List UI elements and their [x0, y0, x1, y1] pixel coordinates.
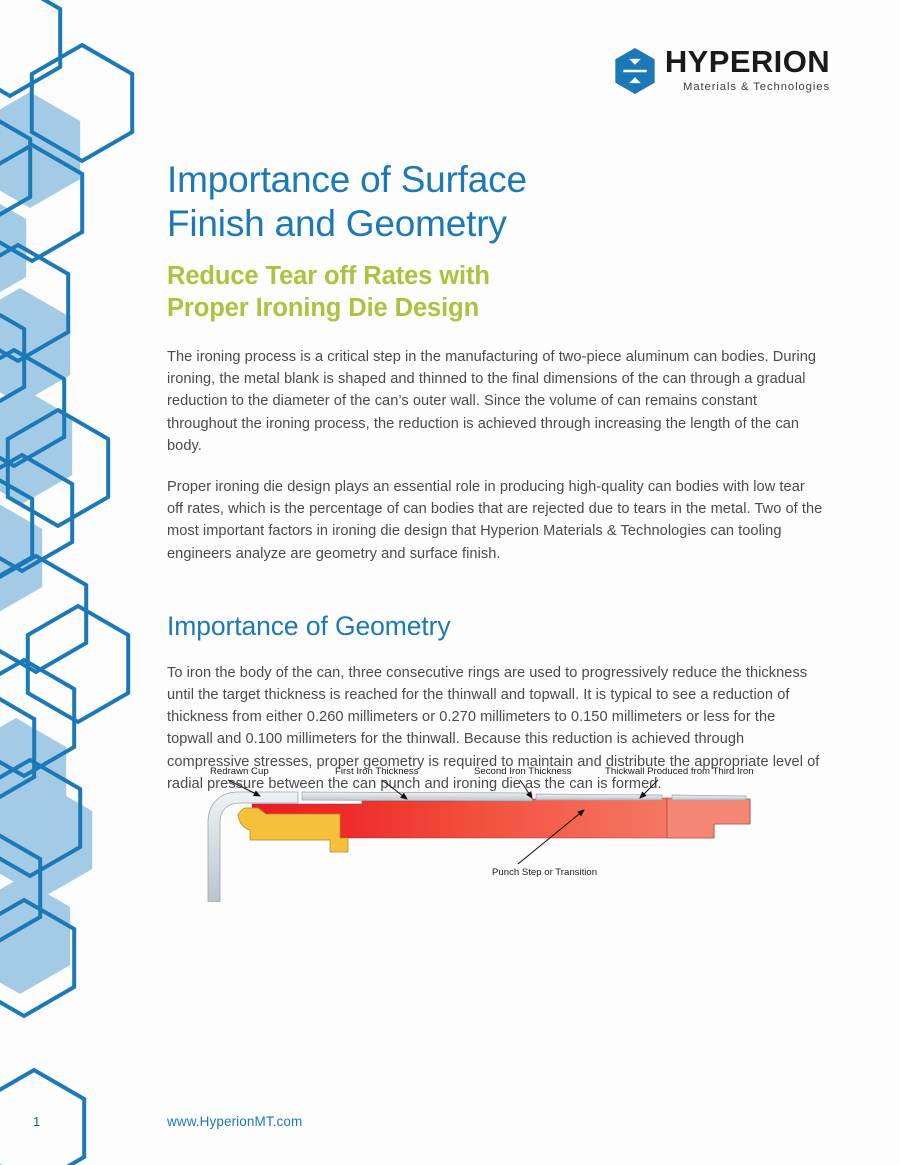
document-content: Importance of Surface Finish and Geometr…	[167, 158, 824, 795]
page-title-line-1: Importance of Surface	[167, 159, 527, 200]
hexagon-decoration-band	[0, 0, 160, 1165]
logo-wordmark: HYPERION	[665, 46, 830, 77]
section-heading-geometry: Importance of Geometry	[167, 610, 824, 642]
figure-punch-step-geometry	[667, 798, 750, 838]
page-subtitle-line-2: Proper Ironing Die Design	[167, 294, 479, 322]
page-title: Importance of Surface Finish and Geometr…	[167, 158, 824, 246]
document-page: HYPERION Materials & Technologies Import…	[0, 0, 900, 1165]
footer-website-link[interactable]: www.HyperionMT.com	[167, 1114, 302, 1129]
page-subtitle-line-1: Reduce Tear off Rates with	[167, 262, 490, 290]
footer-page-number: 1	[33, 1114, 40, 1129]
figure-punch-yellow	[238, 808, 348, 852]
hexagon-outline-group	[0, 0, 132, 1165]
logo-tagline: Materials & Technologies	[683, 82, 830, 93]
figure-band-thickwall	[672, 795, 746, 800]
figure-label-redrawn-cup: Redrawn Cup	[210, 766, 269, 777]
figure-wall-thickness-bands	[302, 792, 746, 801]
figure-label-second-iron: Second Iron Thickness	[474, 766, 572, 777]
figure-label-punch-step: Punch Step or Transition	[492, 867, 597, 878]
hyperion-logo: HYPERION Materials & Technologies	[614, 46, 830, 94]
hexagon-fill-group	[0, 92, 92, 994]
hyperion-hexagon-h-mark-icon	[614, 48, 656, 94]
figure-label-first-iron: First Iron Thickness	[335, 766, 419, 777]
figure-label-thickwall: Thickwall Produced from Third Iron	[605, 766, 754, 777]
figure-band-first-iron	[302, 792, 532, 801]
page-subtitle: Reduce Tear off Rates with Proper Ironin…	[167, 260, 824, 324]
intro-paragraph-1: The ironing process is a critical step i…	[167, 346, 824, 457]
intro-paragraph-2: Proper ironing die design plays an essen…	[167, 476, 824, 565]
can-wall-ironing-cross-section-diagram: Redrawn Cup First Iron Thickness Second …	[180, 752, 820, 902]
page-title-line-2: Finish and Geometry	[167, 203, 507, 244]
